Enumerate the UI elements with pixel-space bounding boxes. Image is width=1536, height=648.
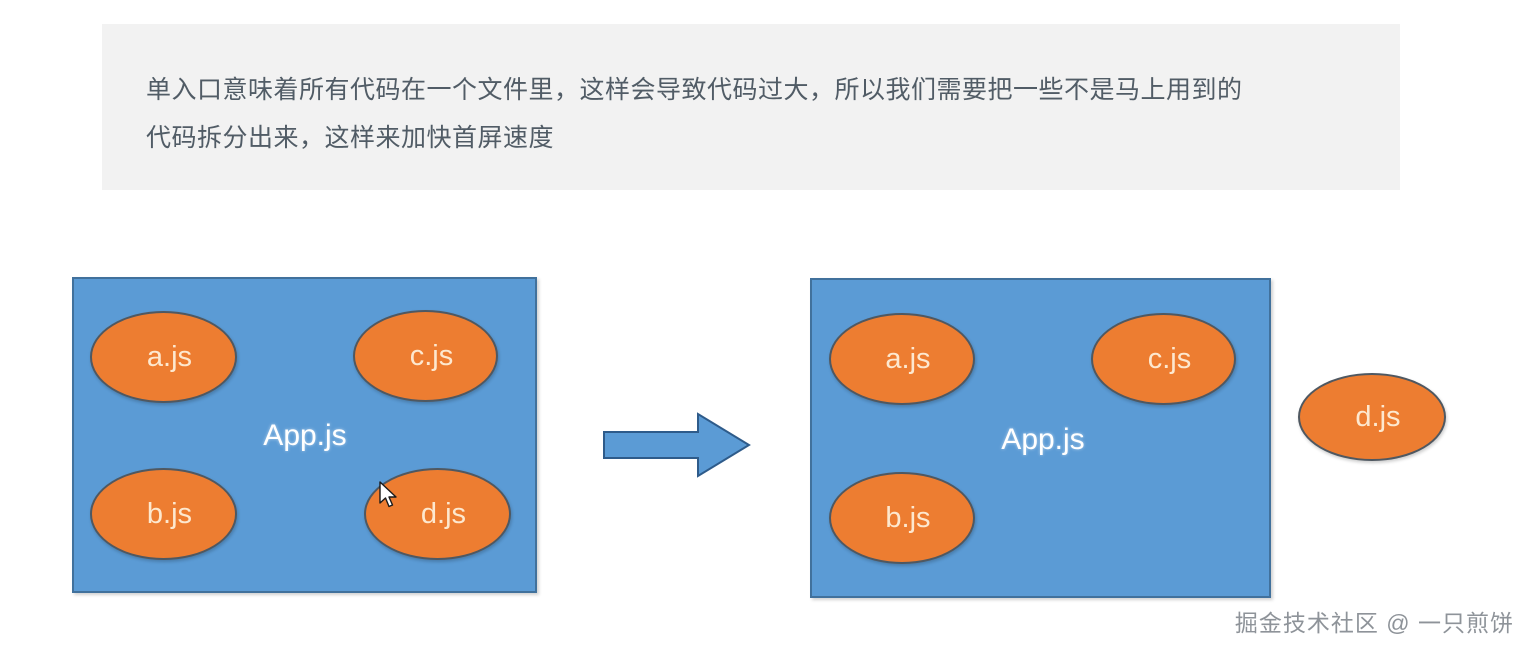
module-label: c.js — [410, 342, 454, 371]
module-label: d.js — [1355, 403, 1400, 432]
module-label: b.js — [885, 504, 930, 533]
bundle-label-after: App.js — [1001, 423, 1084, 457]
code-splitting-diagram: App.js a.js c.js b.js d.js App.js a.js c… — [0, 0, 1536, 648]
module-ellipse-c-js: c.js — [353, 310, 498, 402]
module-ellipse-b-js: b.js — [90, 468, 237, 560]
module-ellipse-b-js-after: b.js — [829, 472, 975, 564]
module-label: d.js — [421, 500, 466, 529]
module-label: a.js — [885, 345, 930, 374]
bundle-label-before: App.js — [263, 419, 346, 453]
module-ellipse-a-js: a.js — [90, 311, 237, 403]
right-block-arrow-icon — [603, 412, 751, 478]
watermark-text: 掘金技术社区 @ 一只煎饼 — [1235, 604, 1514, 638]
module-ellipse-a-js-after: a.js — [829, 313, 975, 405]
module-label: b.js — [147, 500, 192, 529]
module-label: c.js — [1148, 345, 1192, 374]
module-ellipse-d-js: d.js — [364, 468, 511, 560]
module-ellipse-c-js-after: c.js — [1091, 313, 1236, 405]
module-ellipse-d-js-extracted: d.js — [1298, 373, 1446, 461]
module-label: a.js — [147, 343, 192, 372]
